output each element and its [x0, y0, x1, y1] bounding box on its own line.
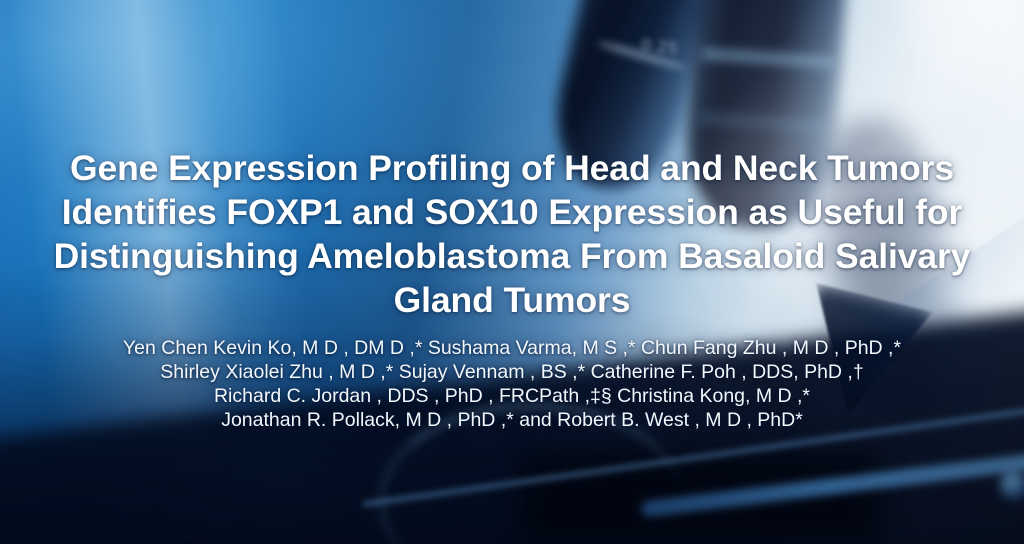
- author-line-4: Jonathan R. Pollack, M D , PhD ,* and Ro…: [32, 408, 992, 432]
- title-line-3: Distinguishing Ameloblastoma From Basalo…: [17, 234, 1007, 278]
- title-line-1: Gene Expression Profiling of Head and Ne…: [17, 146, 1007, 190]
- title-line-2: Identifies FOXP1 and SOX10 Expression as…: [17, 190, 1007, 234]
- title-line-4: Gland Tumors: [17, 278, 1007, 322]
- author-list: Yen Chen Kevin Ko, M D , DM D ,* Sushama…: [32, 336, 992, 432]
- author-line-3: Richard C. Jordan , DDS , PhD , FRCPath …: [32, 384, 992, 408]
- page-title: Gene Expression Profiling of Head and Ne…: [17, 146, 1007, 322]
- author-line-1: Yen Chen Kevin Ko, M D , DM D ,* Sushama…: [32, 336, 992, 360]
- slide-content: Gene Expression Profiling of Head and Ne…: [0, 0, 1024, 544]
- author-line-2: Shirley Xiaolei Zhu , M D ,* Sujay Venna…: [32, 360, 992, 384]
- title-slide: 0.25 Gene Expression Profiling of Head a…: [0, 0, 1024, 544]
